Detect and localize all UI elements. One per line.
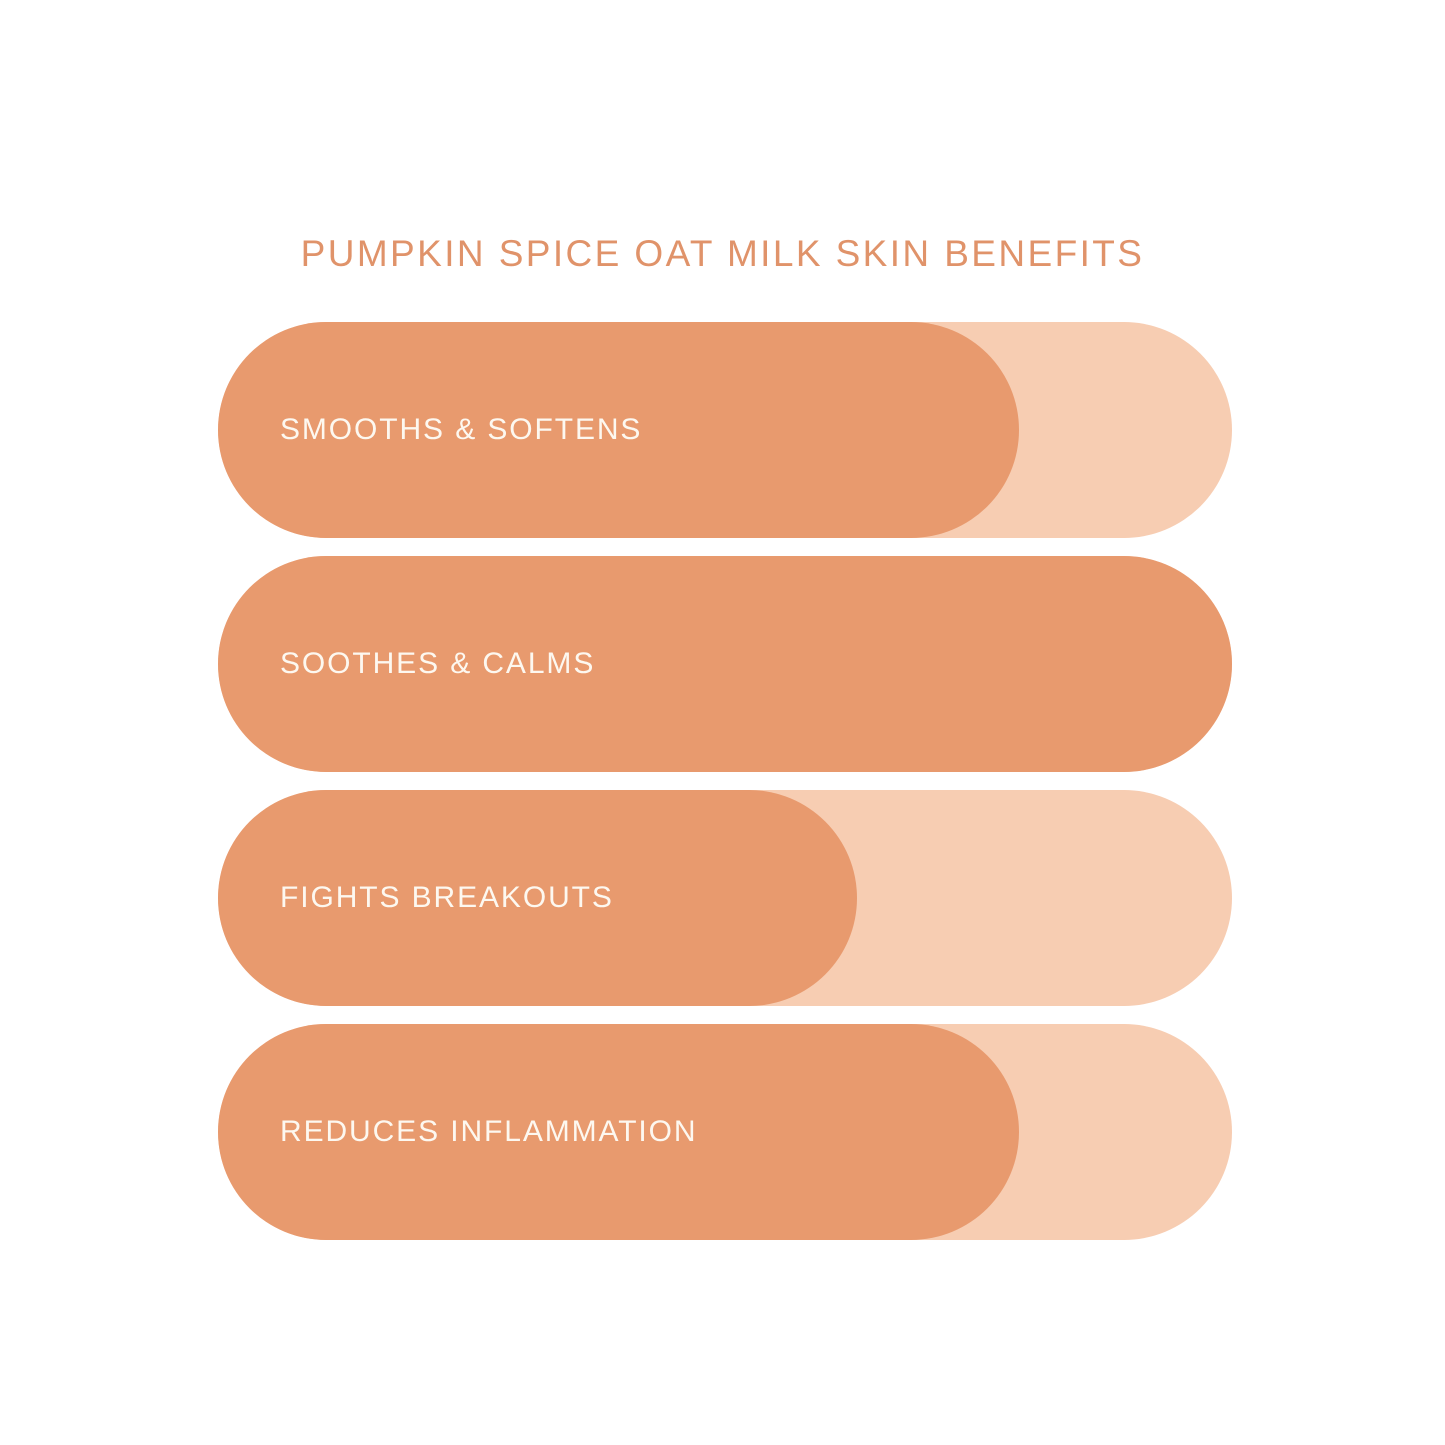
bar-label: REDUCES INFLAMMATION xyxy=(280,1024,697,1240)
bar-row: REDUCES INFLAMMATION xyxy=(218,1024,1232,1240)
infographic-canvas: PUMPKIN SPICE OAT MILK SKIN BENEFITS SMO… xyxy=(0,0,1445,1445)
bar-label: FIGHTS BREAKOUTS xyxy=(280,790,614,1006)
bar-row: SOOTHES & CALMS xyxy=(218,556,1232,772)
page-title: PUMPKIN SPICE OAT MILK SKIN BENEFITS xyxy=(0,232,1445,276)
bar-label: SMOOTHS & SOFTENS xyxy=(280,322,642,538)
bar-chart: SMOOTHS & SOFTENS SOOTHES & CALMS FIGHTS… xyxy=(218,322,1232,1240)
bar-row: FIGHTS BREAKOUTS xyxy=(218,790,1232,1006)
bar-label: SOOTHES & CALMS xyxy=(280,556,595,772)
bar-row: SMOOTHS & SOFTENS xyxy=(218,322,1232,538)
